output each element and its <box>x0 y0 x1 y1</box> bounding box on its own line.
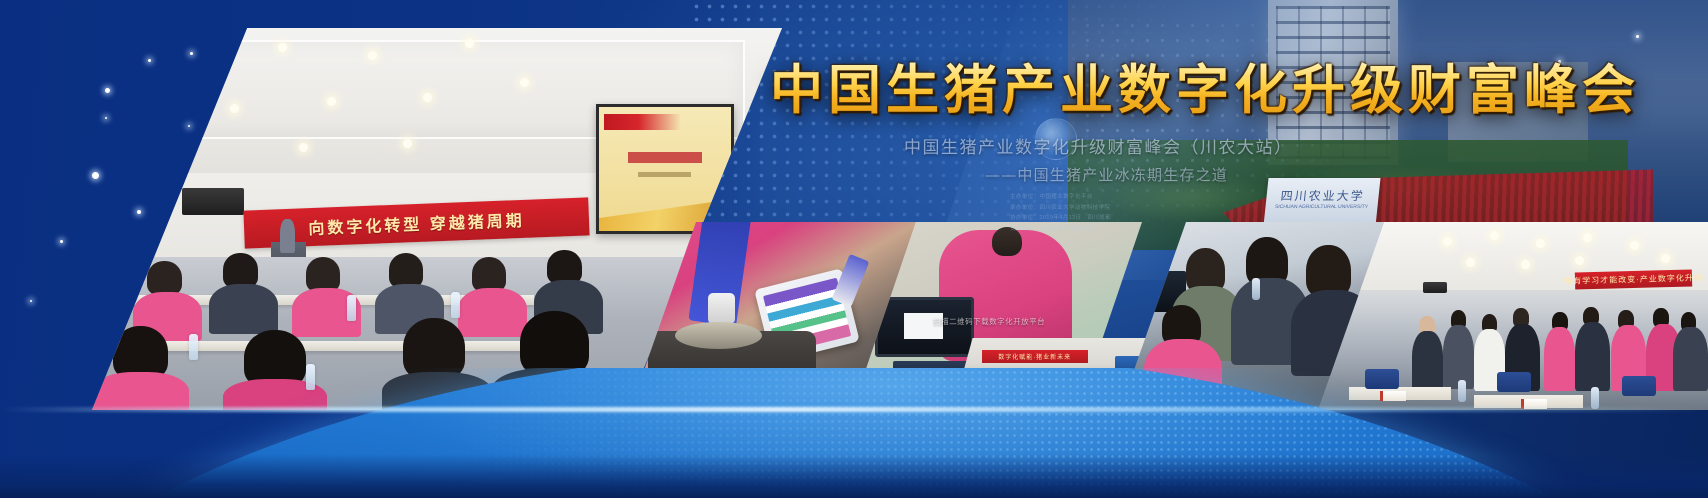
audience-shirt <box>458 288 527 338</box>
star-particle <box>105 88 110 93</box>
audience-head <box>223 253 258 287</box>
ceiling-light <box>1521 260 1530 269</box>
ceiling-light <box>403 139 412 148</box>
ceiling-light <box>368 51 377 60</box>
projector-unit <box>182 188 244 215</box>
audience-head <box>472 257 507 291</box>
ceiling-light <box>299 143 308 152</box>
audience-head <box>306 257 341 291</box>
crowd-red-banner: 数字化赋能·猪业新未来 <box>982 350 1088 363</box>
subtitle-line-1: 中国生猪产业数字化升级财富峰会（川农大站） <box>904 133 1690 158</box>
star-particle <box>188 125 190 127</box>
water-bottle <box>347 295 356 321</box>
fine-print-line: 承办单位：四川农业大学动物科技学院 <box>1010 203 1200 213</box>
screen-title-line <box>628 152 702 163</box>
star-particle <box>30 300 32 302</box>
fine-print-line: 主办单位：中国猪业数字化平台 <box>1010 192 1200 202</box>
audience-head <box>147 261 182 295</box>
star-particle <box>137 210 141 214</box>
kiosk-monitor <box>875 297 974 357</box>
fine-print-block: 主办单位：中国猪业数字化平台 承办单位：四川农业大学动物科技学院 协办单位：20… <box>1010 192 1200 234</box>
screen-header-bar <box>604 114 681 130</box>
fine-print-line: 支持单位：中国生猪产业联合体 <box>1010 224 1200 234</box>
ceiling-light <box>327 97 336 106</box>
audience-head <box>547 250 582 284</box>
hall-red-banner: 唯有学习才能改变·产业数字化升级 <box>1575 269 1692 289</box>
globe-highlight-line <box>0 407 1708 412</box>
crowd-banner-text: 数字化赋能·猪业新未来 <box>998 352 1071 361</box>
ceiling-light <box>1443 237 1452 246</box>
star-particle <box>105 117 107 119</box>
star-particle <box>60 240 63 243</box>
water-bottle <box>451 292 460 318</box>
audience-head <box>520 311 589 376</box>
star-particle <box>92 172 99 179</box>
subtitle-line-2: ——中国生猪产业冰冻期生存之道 <box>985 164 1690 185</box>
audience-shirt <box>209 284 278 334</box>
projector-unit <box>1423 282 1446 293</box>
lanyard-clip <box>708 293 735 323</box>
page-title: 中国生猪产业数字化升级财富峰会 <box>770 62 1690 119</box>
water-bottle <box>189 334 198 360</box>
ceiling-light <box>1466 258 1475 267</box>
audience-head <box>389 253 424 287</box>
screen-subtitle-line <box>638 172 691 177</box>
star-particle <box>148 59 151 62</box>
fine-print-line: 协办单位：2019年4月13日 · 四川成都 <box>1010 213 1200 223</box>
speaker-person <box>280 219 295 253</box>
ceiling-light <box>520 78 529 87</box>
hall-banner-text: 唯有学习才能改变·产业数字化升级 <box>1564 272 1703 287</box>
title-block: 中国生猪产业数字化升级财富峰会 中国生猪产业数字化升级财富峰会（川农大站） ——… <box>770 62 1690 234</box>
star-particle <box>1636 35 1639 38</box>
bottom-fade <box>0 454 1708 498</box>
event-banner: 四川农业大学 SICHUAN AGRICULTURAL UNIVERSITY <box>0 0 1708 498</box>
room-red-banner-text: 向数字化转型 穿越猪周期 <box>308 207 525 239</box>
star-particle <box>190 52 193 55</box>
scan-caption-text: 扫描二维码下载数字化开放平台 <box>933 316 1119 327</box>
water-bottle <box>1252 278 1260 300</box>
ceiling-light <box>1630 241 1639 250</box>
